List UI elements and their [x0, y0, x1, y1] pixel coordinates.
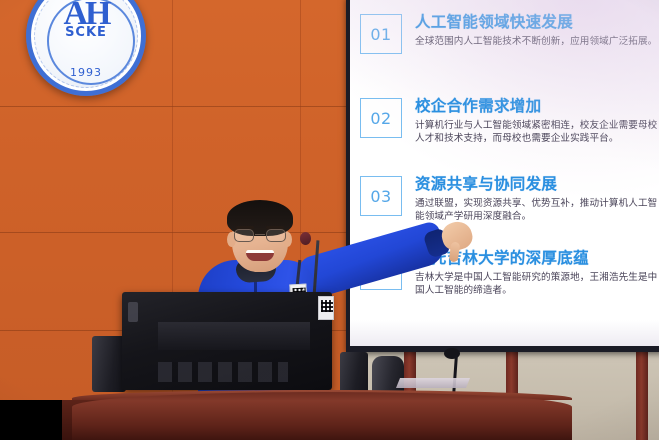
glasses-bridge — [255, 234, 265, 235]
monitor-port-panel — [158, 362, 288, 382]
wooden-post — [636, 340, 648, 440]
monitor-vent-band — [158, 322, 310, 350]
slide-item-title: 资源共享与协同发展 — [415, 176, 659, 193]
slide-item-desc: 全球范围内人工智能技术不断创新，应用领域广泛拓展。 — [415, 35, 659, 48]
slide-item-text: 人工智能领域快速发展 全球范围内人工智能技术不断创新，应用领域广泛拓展。 — [415, 14, 659, 48]
monitor-brand-badge — [128, 302, 138, 322]
qr-code-icon — [321, 300, 333, 312]
podium — [72, 392, 572, 440]
slide-item-text: 校企合作需求增加 计算机行业与人工智能领域紧密相连，校友企业需要母校人才和技术支… — [415, 98, 659, 145]
slide-item-desc: 计算机行业与人工智能领域紧密相连，校友企业需要母校人才和技术支持，而母校也需要企… — [415, 119, 659, 145]
lens-right — [266, 229, 286, 242]
slide-item-desc: 吉林大学是中国人工智能研究的策源地，王湘浩先生是中国人工智能的缔造者。 — [415, 271, 659, 297]
slide-item-title: 人工智能领域快速发展 — [415, 14, 659, 31]
eyeglasses — [234, 229, 286, 242]
speaker-left — [92, 336, 126, 392]
emblem-acronym: SCKE — [31, 25, 141, 40]
emblem-year: 1993 — [31, 66, 141, 79]
podium-paper-ledge — [396, 378, 470, 388]
monitor-rear — [122, 292, 332, 390]
smiling-mouth — [246, 250, 274, 261]
speaker-right — [340, 352, 368, 394]
photo-scene: AH SCKE 1993 01 人工智能领域快速发展 全球范围内人工智能技术不断… — [0, 0, 659, 440]
slide-item-text: 资源共享与协同发展 通过联盟，实现资源共享、优势互补，推动计算机人工智能领域产学… — [415, 176, 659, 223]
slide-item-title: 校企合作需求增加 — [415, 98, 659, 115]
slide-item-desc: 通过联盟，实现资源共享、优势互补，推动计算机人工智能领域产学研用深度融合。 — [415, 197, 659, 223]
lens-left — [234, 229, 254, 242]
slide-number-box: 02 — [360, 98, 402, 138]
monitor-asset-tag — [318, 296, 334, 320]
slide-number-box: 01 — [360, 14, 402, 54]
microphone-head — [300, 232, 311, 245]
